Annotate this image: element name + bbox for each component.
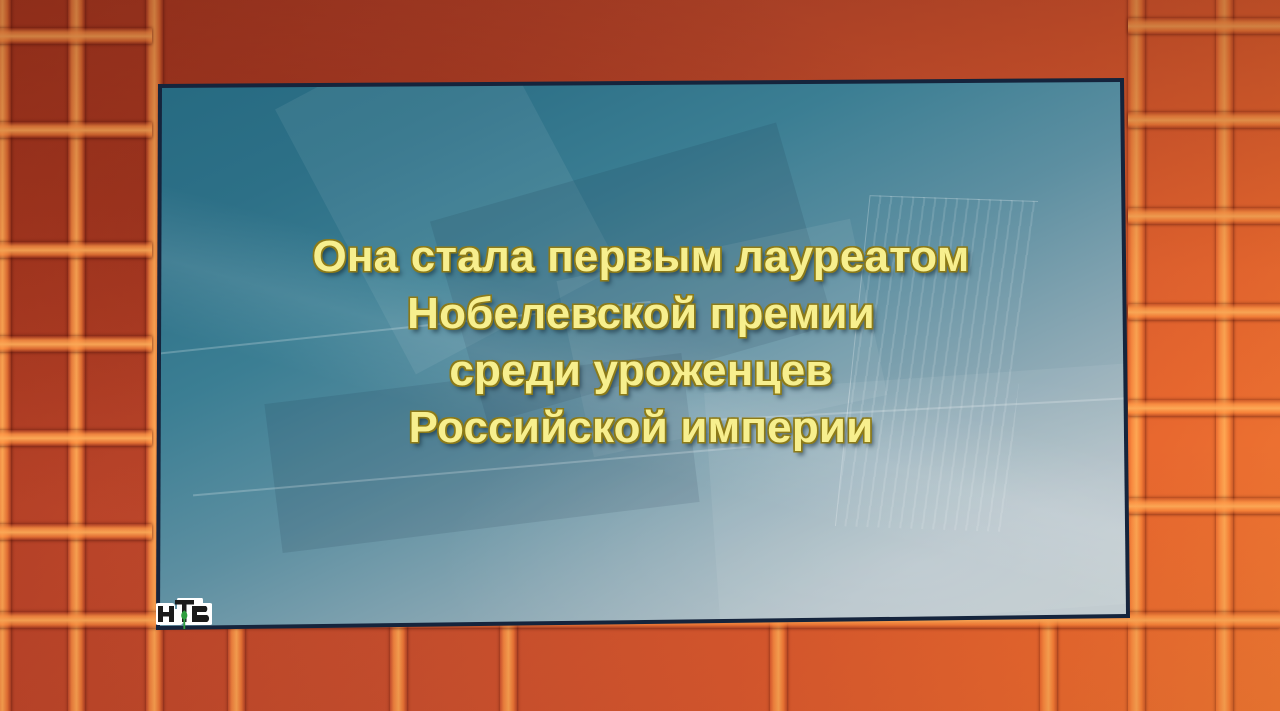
caption-line-3: среди уроженцев <box>152 342 1130 399</box>
screen-sheen <box>152 78 1130 630</box>
decor-panel <box>430 122 834 423</box>
decor-line <box>193 446 751 497</box>
decor-tower <box>835 195 1038 532</box>
caption-line-4: Российской империи <box>152 399 1130 456</box>
caption-block: Она стала первым лауреатом Нобелевской п… <box>152 228 1130 456</box>
decor-panel <box>275 78 619 374</box>
ntv-logo <box>156 598 212 632</box>
decor-line <box>152 301 651 357</box>
caption-line-1: Она стала первым лауреатом <box>152 228 1130 285</box>
broadcast-frame: Она стала первым лауреатом Нобелевской п… <box>0 0 1280 711</box>
caption-line-2: Нобелевской премии <box>152 285 1130 342</box>
screen-surface: Она стала первым лауреатом Нобелевской п… <box>152 78 1130 630</box>
decor-panel <box>264 353 699 553</box>
decor-panel <box>704 364 1130 630</box>
decor-line <box>712 397 1130 421</box>
projection-screen: Она стала первым лауреатом Нобелевской п… <box>152 78 1130 630</box>
decor-panel <box>557 219 888 457</box>
